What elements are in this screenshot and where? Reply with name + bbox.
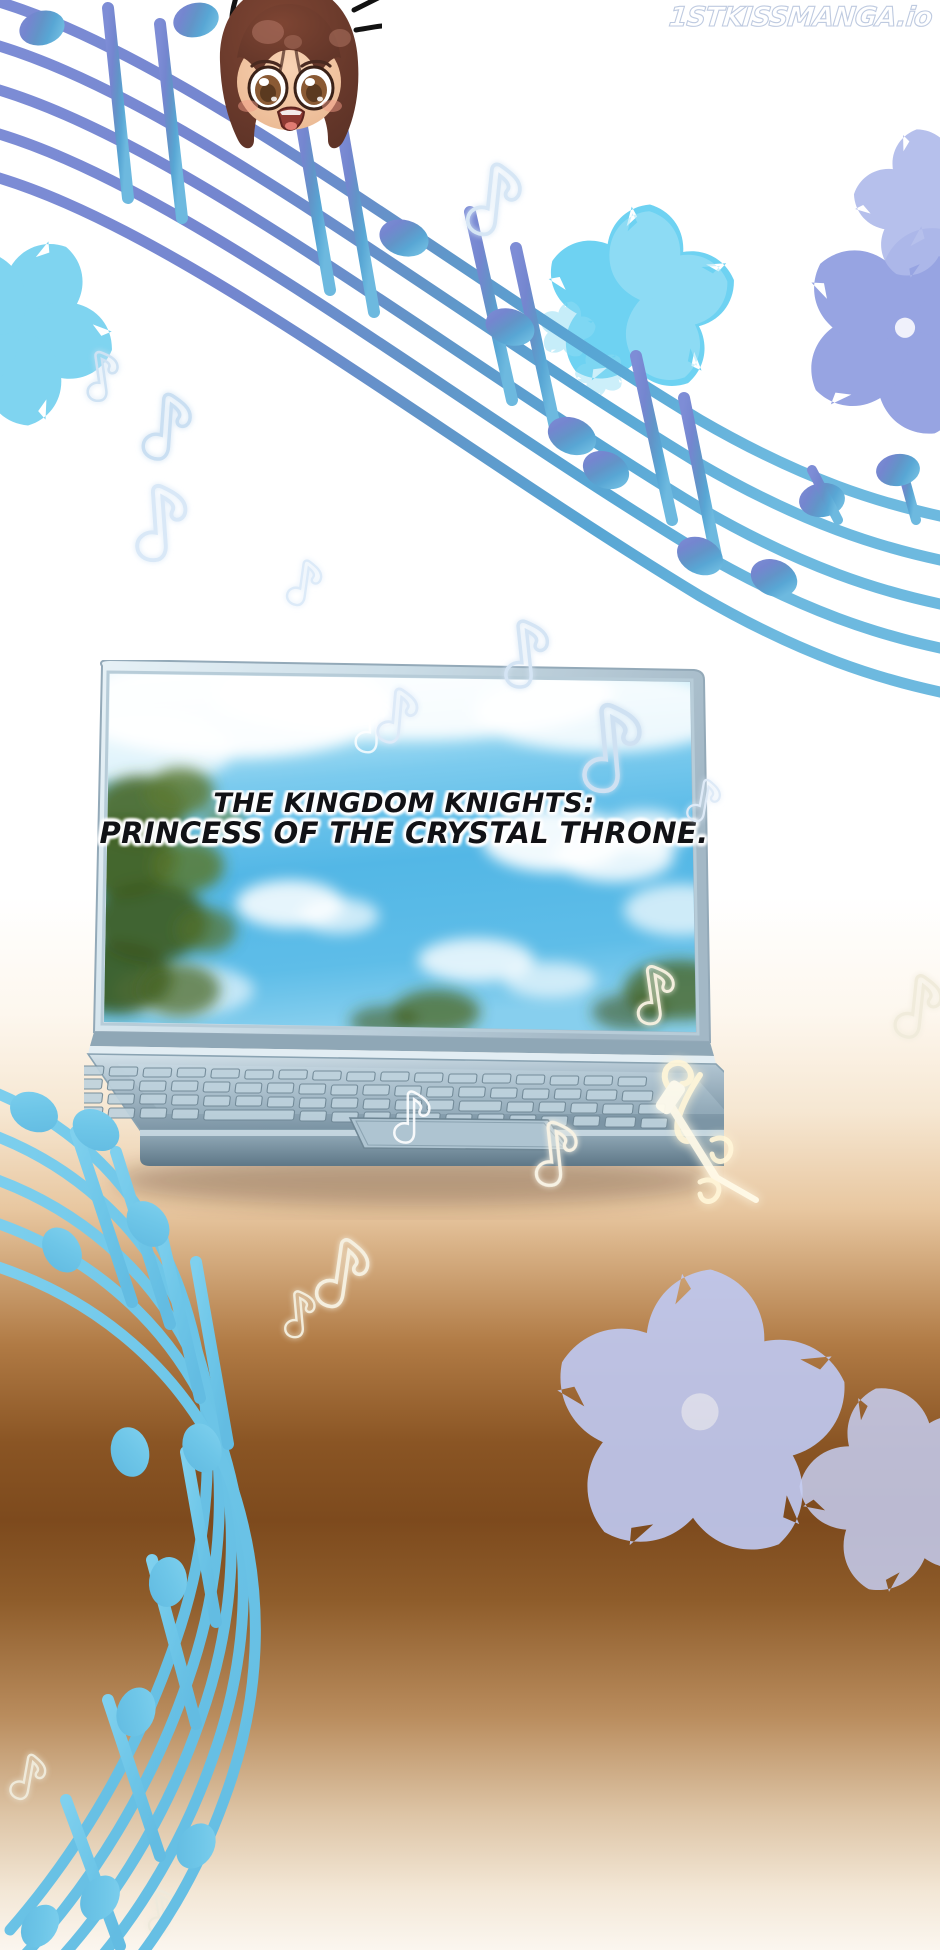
staff-lines-bottom	[0, 1080, 255, 1950]
comic-panel: THE KINGDOM KNIGHTS: PRINCESS OF THE CRY…	[0, 0, 940, 1950]
site-watermark: 1STKISSMANGA.io	[668, 2, 934, 33]
musical-staff-bottom	[0, 0, 940, 1950]
